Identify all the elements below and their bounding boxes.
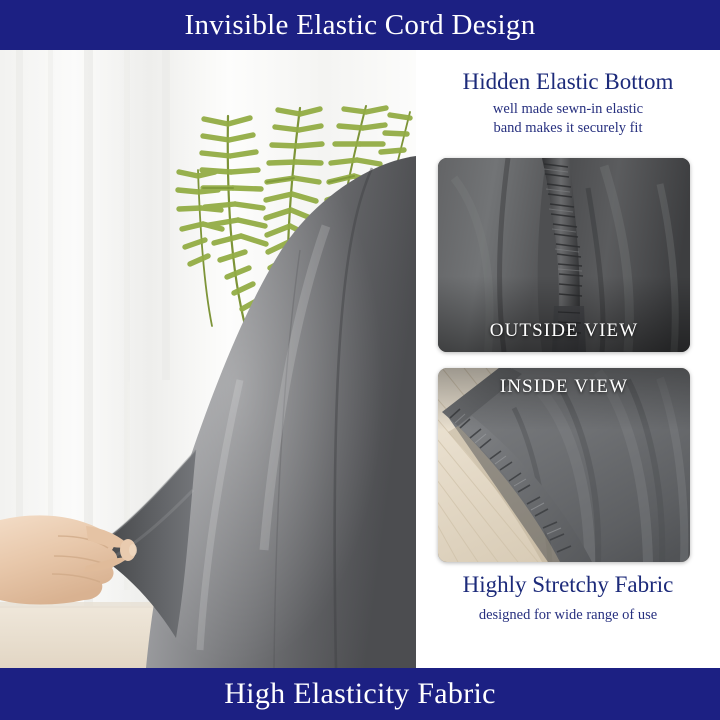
hero-photo-illustration xyxy=(0,50,416,668)
inside-view-panel: INSIDE VIEW xyxy=(438,368,690,562)
highly-stretchy-fabric-subtitle: designed for wide range of use xyxy=(416,606,720,625)
hero-product-photo xyxy=(0,50,416,668)
bottom-banner-title: High Elasticity Fabric xyxy=(224,679,496,709)
outside-view-panel: OUTSIDE VIEW xyxy=(438,158,690,352)
highly-stretchy-fabric-heading: Highly Stretchy Fabric xyxy=(416,572,720,597)
inside-view-illustration xyxy=(438,368,690,562)
right-column: Hidden Elastic Bottom well made sewn-in … xyxy=(416,50,720,668)
hidden-elastic-bottom-block: Hidden Elastic Bottom xyxy=(416,69,720,94)
hidden-elastic-bottom-subtitle-line1: well made sewn-in elastic xyxy=(416,100,720,119)
highly-stretchy-fabric-block: Highly Stretchy Fabric xyxy=(416,572,720,597)
infographic-page: Invisible Elastic Cord Design xyxy=(0,0,720,720)
outside-view-illustration xyxy=(438,158,690,352)
top-banner: Invisible Elastic Cord Design xyxy=(0,0,720,50)
highly-stretchy-fabric-subtitle-line1: designed for wide range of use xyxy=(416,606,720,625)
hidden-elastic-bottom-subtitle-line2: band makes it securely fit xyxy=(416,119,720,138)
hidden-elastic-bottom-subtitle: well made sewn-in elastic band makes it … xyxy=(416,100,720,137)
hidden-elastic-bottom-heading: Hidden Elastic Bottom xyxy=(416,69,720,94)
bottom-banner: High Elasticity Fabric xyxy=(0,668,720,720)
top-banner-title: Invisible Elastic Cord Design xyxy=(184,11,535,40)
